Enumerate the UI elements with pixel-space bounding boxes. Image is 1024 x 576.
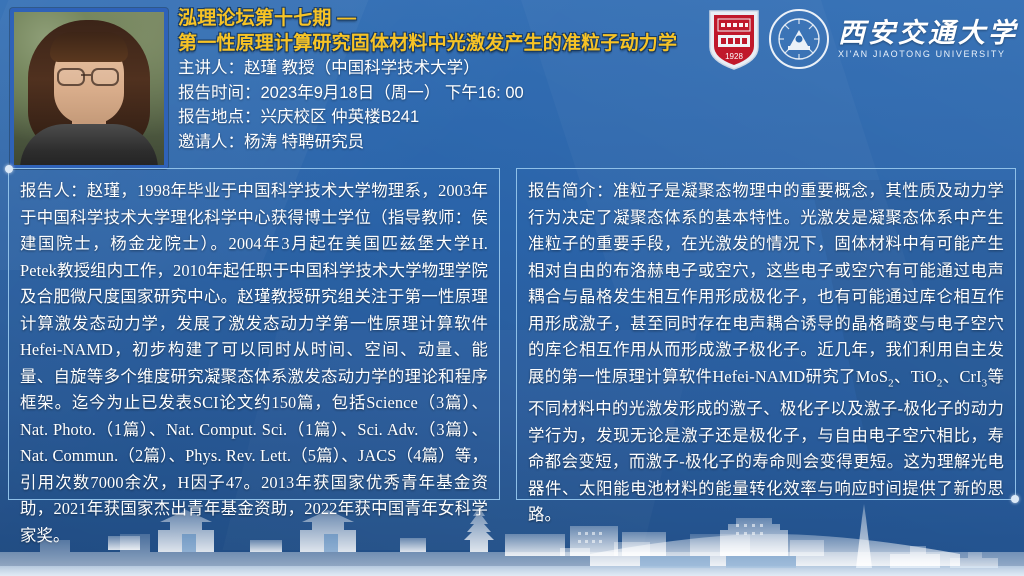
city-skyline-decoration <box>0 490 1024 576</box>
corner-dot-icon <box>5 165 13 173</box>
speaker-photo <box>10 8 168 169</box>
abstract-part-3: 、CrI <box>942 367 981 386</box>
speaker-line: 主讲人：赵瑾 教授（中国科学技术大学） <box>178 56 698 81</box>
speaker-bio-box: 报告人：赵瑾，1998年毕业于中国科学技术大学物理系，2003年于中国科学技术大… <box>8 168 500 500</box>
xjtu-wordmark: 西安交通大学 XI'AN JIAOTONG UNIVERSITY <box>838 18 1018 60</box>
xjtu-seal-icon <box>768 8 830 70</box>
abstract-text: 报告简介：准粒子是凝聚态物理中的重要概念，其性质及动力学行为决定了凝聚态体系的基… <box>528 178 1004 529</box>
svg-text:1928: 1928 <box>725 52 743 61</box>
photo-glasses-left <box>57 68 85 86</box>
xjtu-crest-icon: 1928 <box>706 7 762 71</box>
abstract-box: 报告简介：准粒子是凝聚态物理中的重要概念，其性质及动力学行为决定了凝聚态体系的基… <box>516 168 1016 500</box>
seminar-poster: 泓理论坛第十七期 — 第一性原理计算研究固体材料中光激发产生的准粒子动力学 主讲… <box>0 0 1024 576</box>
photo-glasses-bridge <box>81 74 91 76</box>
photo-glasses-right <box>91 68 119 86</box>
place-line: 报告地点：兴庆校区 仲英楼B241 <box>178 105 698 130</box>
photo-torso <box>20 124 158 169</box>
photo-fringe <box>50 32 128 62</box>
wordmark-chinese: 西安交通大学 <box>838 18 1018 48</box>
host-line: 邀请人：杨涛 特聘研究员 <box>178 130 698 155</box>
header-text-block: 泓理论坛第十七期 — 第一性原理计算研究固体材料中光激发产生的准粒子动力学 主讲… <box>178 6 698 154</box>
university-logos: 1928 西安交通大学 XI'AN JIAOTONG UNIVERSITY <box>706 6 1018 72</box>
abstract-part-2: 、TiO <box>894 367 937 386</box>
forum-title-line-1: 泓理论坛第十七期 — <box>178 6 698 31</box>
forum-title-line-2: 第一性原理计算研究固体材料中光激发产生的准粒子动力学 <box>178 31 698 56</box>
wordmark-english: XI'AN JIAOTONG UNIVERSITY <box>838 48 1018 60</box>
time-line: 报告时间：2023年9月18日（周一） 下午16: 00 <box>178 81 698 106</box>
abstract-part-1: 报告简介：准粒子是凝聚态物理中的重要概念，其性质及动力学行为决定了凝聚态体系的基… <box>528 181 1004 386</box>
skyline-baseline <box>0 566 1024 576</box>
